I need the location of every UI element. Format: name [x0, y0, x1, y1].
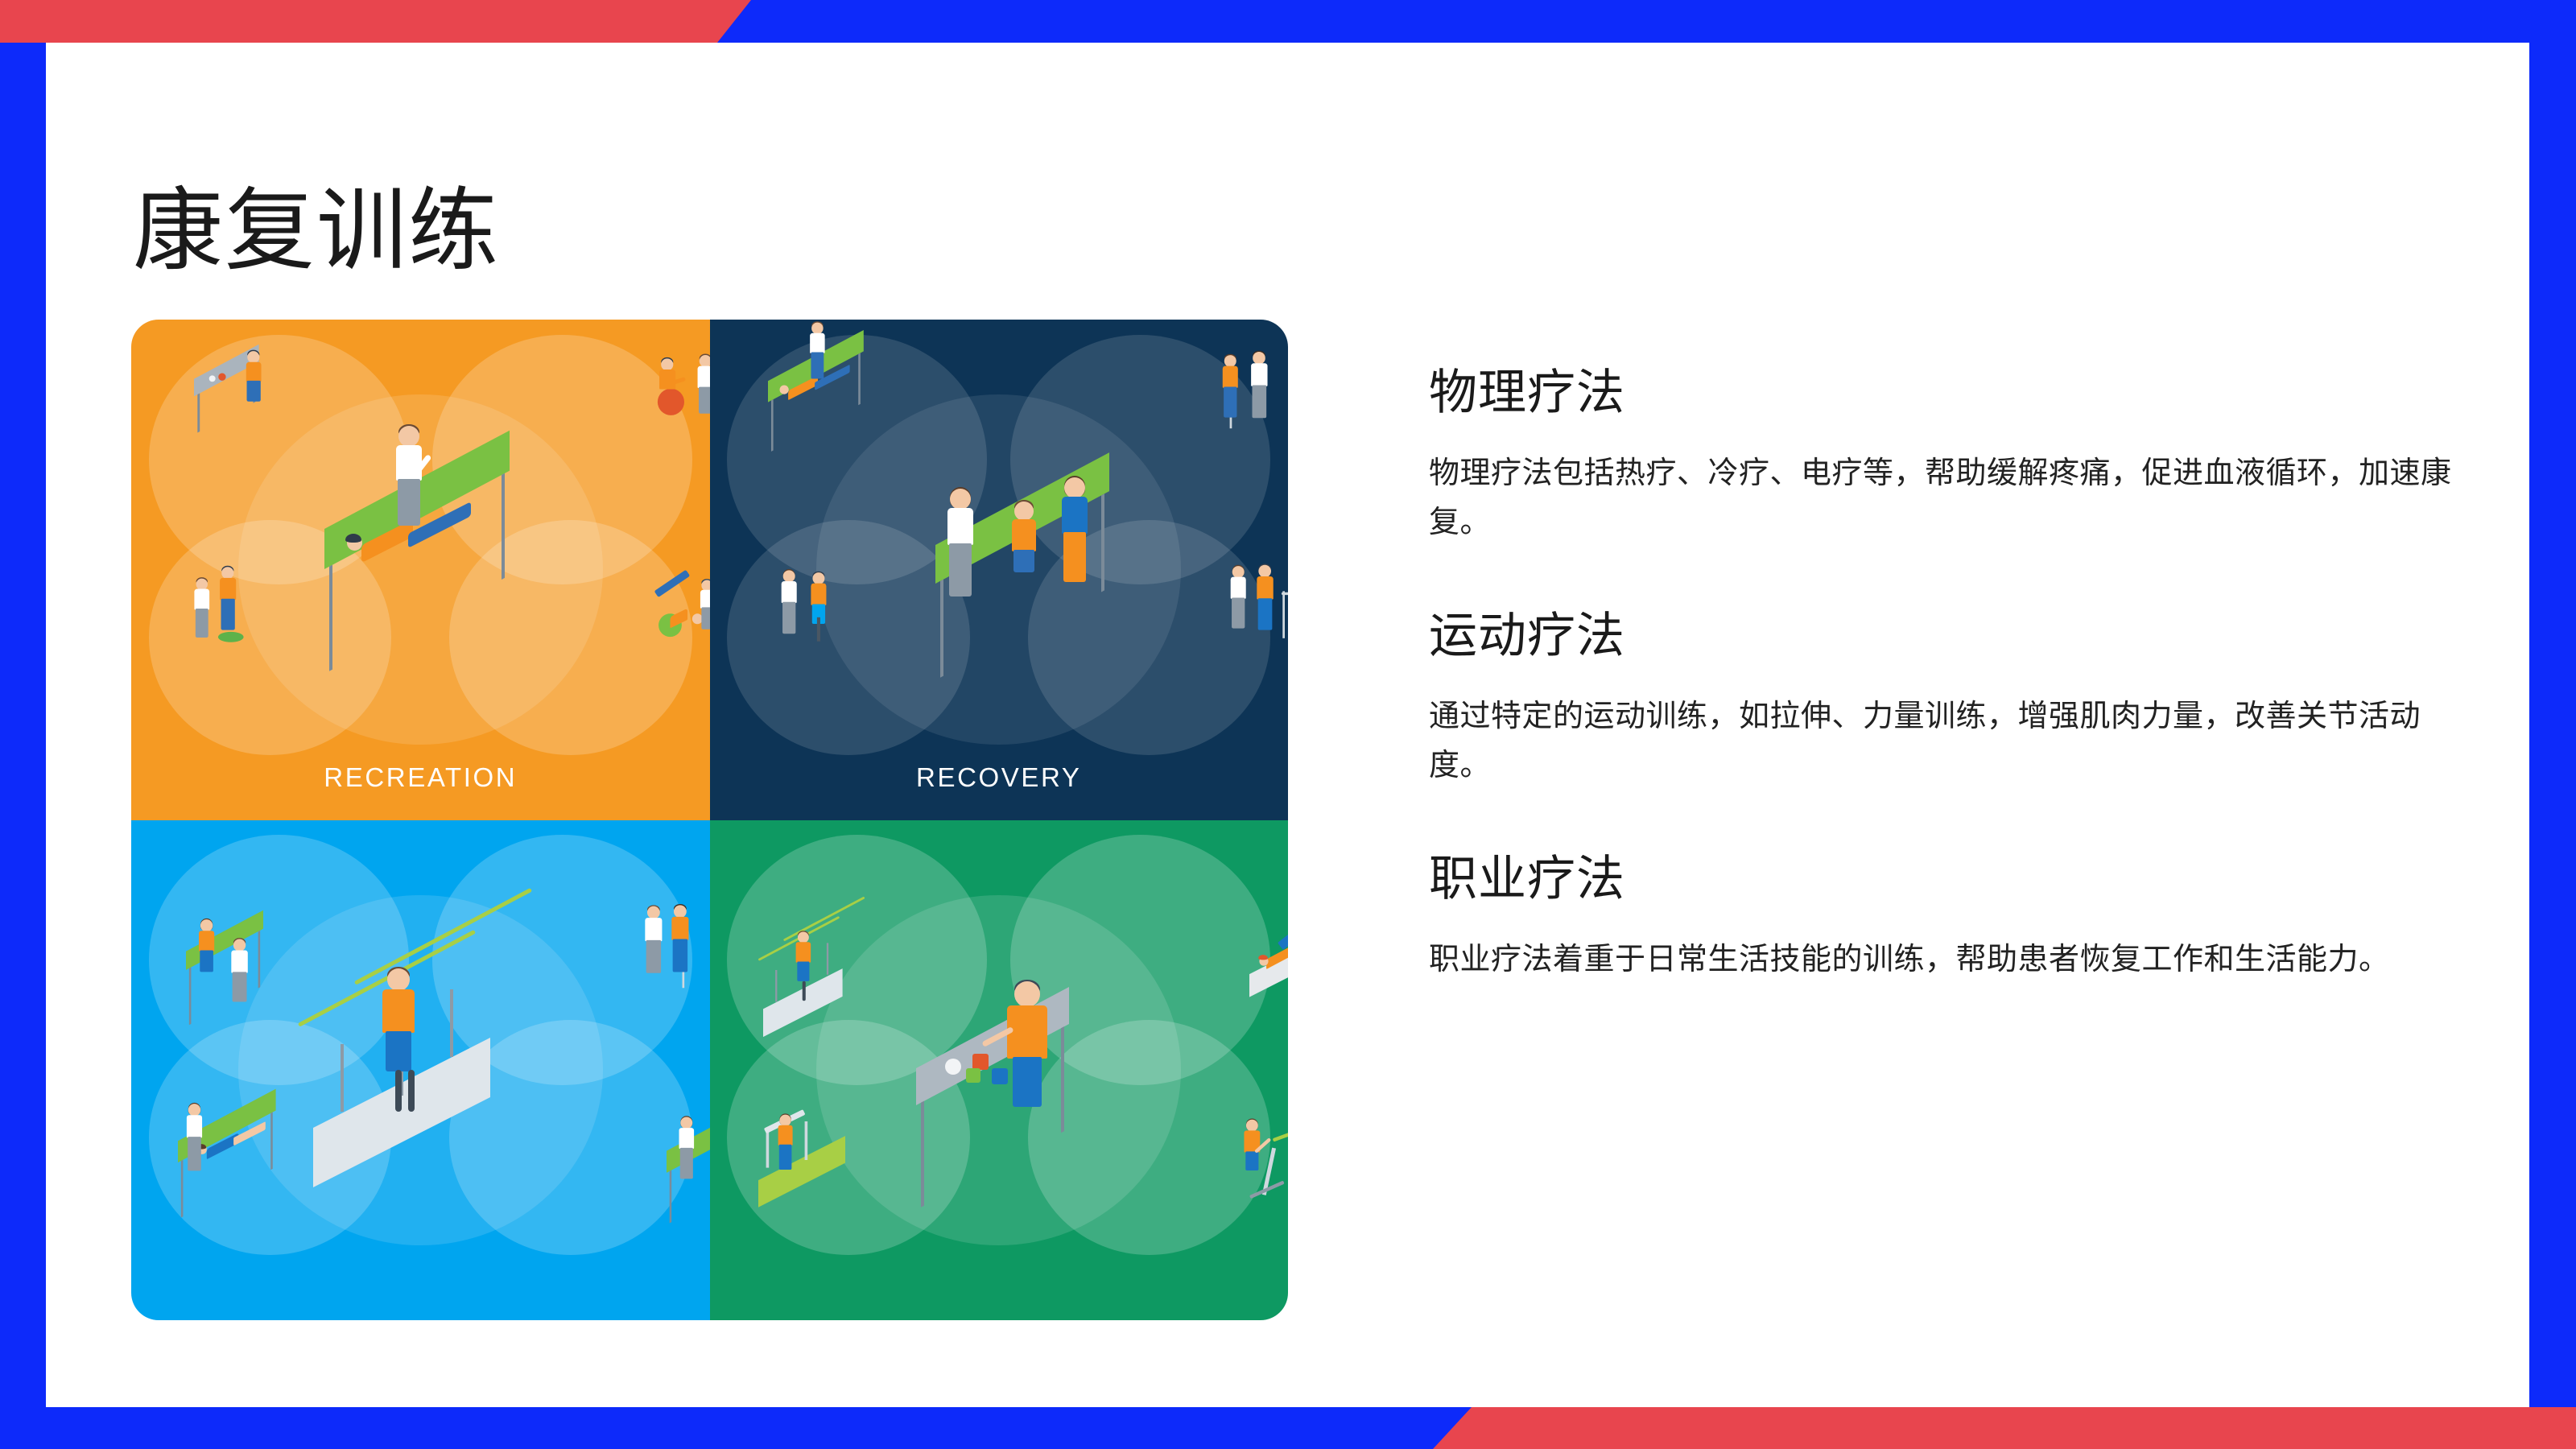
section-heading-physical-therapy: 物理疗法	[1429, 365, 2483, 422]
walker-handle	[1282, 592, 1288, 595]
child-therapy-left-adult-head	[680, 1117, 692, 1129]
crutch-pair-patient-legs	[672, 939, 687, 972]
therapist-right-head	[1064, 477, 1085, 498]
assist-therapist-legs	[698, 387, 709, 414]
treadmill-rail-right	[804, 1121, 807, 1160]
prosthetic-therapist-legs	[782, 602, 795, 634]
treadmill-rail-left	[766, 1129, 769, 1167]
crutch-pair-helper-torso	[645, 918, 662, 941]
stretch-therapist-torso	[810, 333, 824, 353]
balance-therapist-torso	[194, 589, 209, 610]
therapist-left-legs	[949, 543, 972, 597]
gait-patient-legs	[386, 1031, 411, 1071]
bike-patient-head	[1246, 1119, 1258, 1131]
section-body-occupational-therapy: 职业疗法着重于日常生活技能的训练，帮助患者恢复工作和生活能力。	[1429, 935, 2467, 985]
balance-therapist-legs	[196, 609, 208, 638]
crutch-patient-legs	[1224, 387, 1236, 418]
ankle-patient-legs	[200, 950, 213, 972]
balance-patient-torso	[220, 578, 236, 600]
ball-exercise-therapist-torso	[700, 590, 709, 609]
ankle-therapist-legs	[233, 972, 247, 1001]
top-red-wedge	[0, 0, 773, 43]
small-gait-patient-head	[797, 931, 808, 943]
occupational-patient-legs	[1013, 1057, 1042, 1107]
core-patient-hair	[1258, 955, 1268, 960]
gait-patient-head	[387, 968, 410, 991]
crutch-patient-torso	[1223, 366, 1238, 388]
content-section-occupational-therapy: 职业疗法 职业疗法着重于日常生活技能的训练，帮助患者恢复工作和生活能力。	[1429, 851, 2483, 985]
walker-therapist-torso	[1231, 577, 1246, 599]
bike-patient-legs	[1245, 1151, 1258, 1170]
occupational-patient-head	[1014, 981, 1040, 1007]
massage-therapist-legs	[188, 1137, 201, 1170]
prosthetic-leg	[395, 1070, 402, 1112]
therapist-torso	[396, 445, 422, 481]
walker-therapist-legs	[1232, 598, 1245, 629]
task-red-block	[972, 1054, 989, 1070]
therapist-right-torso	[1062, 497, 1088, 534]
crutch-helper-torso	[1251, 363, 1267, 386]
crutch-helper-legs	[1252, 385, 1266, 418]
white-block	[209, 375, 216, 382]
child-torso	[1012, 519, 1036, 551]
illustration-quadrant-mobility	[131, 820, 710, 1321]
balance-disc	[218, 632, 244, 642]
quadrant-label-recreation: RECREATION	[131, 762, 710, 793]
therapist-legs	[398, 479, 420, 526]
therapist-head	[398, 426, 419, 447]
content-section-exercise-therapy: 运动疗法 通过特定的运动训练，如拉伸、力量训练，增强肌肉力量，改善关节活动度。	[1429, 608, 2483, 791]
therapist-right-legs	[1063, 532, 1086, 582]
crutch-pair-helper-head	[646, 906, 659, 919]
illustration-quadrant-recreation: RECREATION	[131, 320, 710, 820]
quadrant-blobs	[131, 320, 710, 820]
small-gait-patient-torso	[795, 942, 811, 963]
therapist-left-head	[950, 489, 971, 510]
seated-patient-torso	[246, 362, 261, 382]
task-white-ball	[945, 1059, 961, 1075]
red-block	[218, 373, 225, 380]
ball-exercise-head	[691, 613, 702, 624]
top-decorative-band	[0, 0, 2576, 43]
ankle-therapist-head	[233, 939, 246, 951]
ball-patient-torso	[658, 369, 675, 389]
ankle-therapist-torso	[231, 950, 247, 972]
small-gait-patient-legs	[797, 961, 809, 980]
illustration-quadrant-exercise	[710, 820, 1289, 1321]
ankle-patient-head	[200, 919, 213, 931]
child-legs	[1013, 550, 1034, 572]
treadmill-patient-legs	[778, 1144, 791, 1169]
bar-post-1	[341, 1044, 344, 1112]
bar-post-2	[450, 989, 453, 1057]
seated-patient-legs	[246, 381, 260, 402]
quadrant-blobs	[131, 820, 710, 1321]
ankle-patient-torso	[199, 931, 214, 952]
section-body-physical-therapy: 物理疗法包括热疗、冷疗、电疗等，帮助缓解疼痛，促进血液循环，加速康复。	[1429, 449, 2467, 548]
exercise-ball	[657, 389, 683, 415]
page-title: 康复训练	[133, 180, 500, 283]
walker-patient-head	[1258, 565, 1271, 578]
bottom-red-wedge	[1433, 1407, 2576, 1449]
crutch-pair-patient-head	[673, 905, 686, 918]
massage-therapist-torso	[187, 1115, 202, 1137]
crutch-pair-helper-legs	[646, 939, 660, 972]
ball-exercise-therapist-legs	[701, 607, 710, 629]
section-heading-exercise-therapy: 运动疗法	[1429, 608, 2483, 665]
walker-patient-torso	[1257, 576, 1273, 600]
illustration-quadrant-recovery: RECOVERY	[710, 320, 1289, 820]
blob-bottom-left	[727, 520, 970, 755]
massage-therapist-head	[188, 1104, 200, 1116]
section-body-exercise-therapy: 通过特定的运动训练，如拉伸、力量训练，增强肌肉力量，改善关节活动度。	[1429, 692, 2467, 791]
gait-patient-torso	[382, 989, 415, 1033]
treadmill-patient-head	[779, 1114, 791, 1125]
content-section-physical-therapy: 物理疗法 物理疗法包括热疗、冷疗、电疗等，帮助缓解疼痛，促进血液循环，加速康复。	[1429, 365, 2483, 548]
balance-patient-legs	[221, 599, 234, 630]
walker-patient-legs	[1257, 598, 1272, 630]
patient-hair	[345, 534, 361, 543]
blob-bottom-left	[149, 520, 392, 755]
child-head	[1014, 502, 1034, 521]
content-column: 物理疗法 物理疗法包括热疗、冷疗、电疗等，帮助缓解疼痛，促进血液循环，加速康复。…	[1429, 365, 2483, 985]
blob-bottom-right	[449, 520, 692, 755]
prosthetic-limb	[816, 617, 819, 642]
therapist-left-torso	[947, 508, 973, 545]
task-green-block	[966, 1068, 980, 1083]
quadrant-label-recovery: RECOVERY	[710, 762, 1289, 793]
blob-bottom-left	[727, 1020, 970, 1255]
prosthetic-therapist-torso	[781, 581, 796, 603]
assist-therapist-torso	[697, 366, 710, 388]
task-blue-cup	[992, 1068, 1008, 1084]
slide-card: 康复训练	[46, 43, 2529, 1407]
child-therapy-left-adult-torso	[679, 1128, 694, 1149]
left-blue-border	[0, 0, 46, 1449]
stretch-therapist-legs	[811, 353, 824, 379]
prosthetic-patient-torso	[811, 584, 826, 605]
child-therapy-left-adult-legs	[679, 1147, 692, 1178]
walker-frame-left	[1282, 591, 1285, 638]
section-heading-occupational-therapy: 职业疗法	[1429, 851, 2483, 908]
right-blue-border	[2529, 0, 2576, 1449]
illustration-collage: RECREATION	[131, 320, 1288, 1320]
prosthetic-leg-2	[408, 1070, 415, 1112]
stretch-patient-head	[779, 385, 788, 394]
small-post-1	[775, 970, 777, 1001]
treadmill-patient-torso	[778, 1125, 792, 1145]
crutch-pair-patient-torso	[671, 916, 688, 939]
bottom-decorative-band	[0, 1407, 2576, 1449]
small-post-2	[826, 943, 828, 974]
small-prosthetic	[802, 980, 805, 1000]
